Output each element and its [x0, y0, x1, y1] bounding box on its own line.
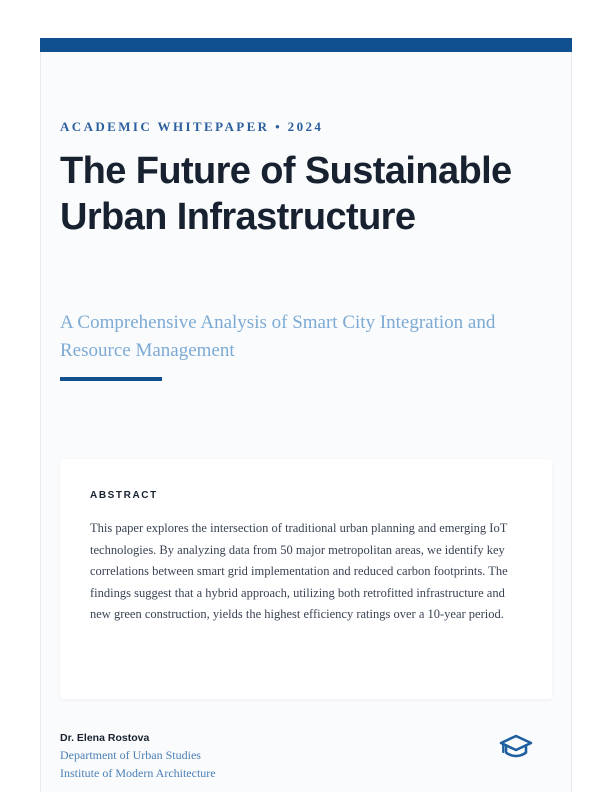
title-line-2: Urban Infrastructure: [60, 196, 415, 238]
document-footer: Dr. Elena Rostova Department of Urban St…: [60, 730, 552, 782]
title-line-1: The Future of Sustainable: [60, 150, 512, 192]
graduation-cap-icon: [499, 732, 533, 762]
abstract-panel: ABSTRACT This paper explores the interse…: [60, 459, 552, 699]
document-eyebrow: ACADEMIC WHITEPAPER • 2024: [60, 119, 323, 135]
author-institute: Institute of Modern Architecture: [60, 764, 552, 782]
header-accent-bar: [40, 38, 572, 52]
subtitle-accent-rule: [60, 377, 162, 381]
author-department: Department of Urban Studies: [60, 746, 552, 764]
abstract-body: This paper explores the intersection of …: [90, 518, 516, 626]
document-subtitle: A Comprehensive Analysis of Smart City I…: [60, 309, 550, 365]
abstract-label: ABSTRACT: [90, 490, 158, 501]
page-title: The Future of Sustainable Urban Infrastr…: [60, 148, 560, 240]
author-name: Dr. Elena Rostova: [60, 730, 552, 746]
